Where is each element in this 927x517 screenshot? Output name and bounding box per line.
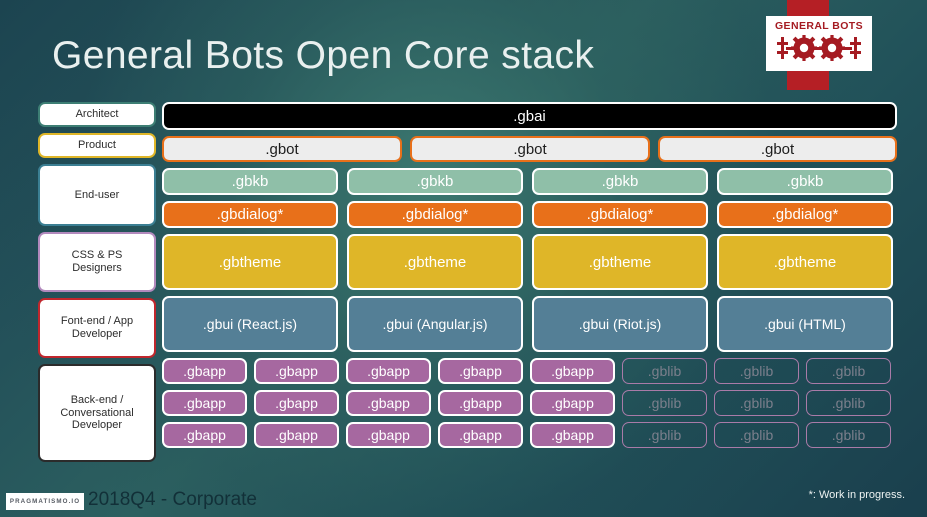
stack-cell-gblib[interactable]: .gblib [806,422,891,448]
spacer [431,358,438,384]
spacer [799,390,806,416]
spacer [799,422,806,448]
spacer [708,296,717,352]
role-label-5: Font-end / AppDeveloper [38,298,156,358]
stack-cell-gbapp[interactable]: .gbapp [162,422,247,448]
spacer [339,422,346,448]
spacer [431,390,438,416]
gbkb-row: .gbkb.gbkb.gbkb.gbkb [162,168,897,195]
stack-cell-gbapp[interactable]: .gbapp [438,358,523,384]
stack-cell-gbapp[interactable]: .gbapp [254,358,339,384]
spacer [707,390,714,416]
stack-cell-gbtheme[interactable]: .gbtheme [532,234,708,290]
stack-cell-gbapp[interactable]: .gbapp [162,358,247,384]
spacer [338,234,347,290]
spacer [247,422,254,448]
stack-cell-gbai[interactable]: .gbai [162,102,897,130]
spacer [523,201,532,228]
pragmatismo-logo: PRAGMATISMO.IO [6,493,84,510]
spacer [615,358,622,384]
role-label-3: End-user [38,164,156,226]
spacer [523,168,532,195]
spacer [707,358,714,384]
stack-cell-gbapp[interactable]: .gbapp [530,390,615,416]
spacer [431,422,438,448]
spacer [799,358,806,384]
spacer [708,168,717,195]
spacer [650,136,658,162]
stack-cell-gbapp[interactable]: .gbapp [530,422,615,448]
stack-cell-gbdialog[interactable]: .gbdialog* [162,201,338,228]
stack-cell-gblib[interactable]: .gblib [806,358,891,384]
spacer [523,358,530,384]
gbapp-gblib-row-2: .gbapp.gbapp.gbapp.gbapp.gbapp.gblib.gbl… [162,390,897,416]
gbapp-gblib-row-3: .gbapp.gbapp.gbapp.gbapp.gbapp.gblib.gbl… [162,422,897,448]
spacer [339,390,346,416]
spacer [338,296,347,352]
role-label-2: Product [38,133,156,158]
stack-cell-gbtheme[interactable]: .gbtheme [347,234,523,290]
spacer [339,358,346,384]
stack-cell-gblib[interactable]: .gblib [714,358,799,384]
stack-cell-gbapp[interactable]: .gbapp [346,390,431,416]
stack-cell-gblib[interactable]: .gblib [806,390,891,416]
stack-cell-gbkb[interactable]: .gbkb [717,168,893,195]
stack-cell-gbapp[interactable]: .gbapp [346,422,431,448]
spacer [615,422,622,448]
spacer [523,422,530,448]
spacer [338,168,347,195]
gbtheme-row: .gbtheme.gbtheme.gbtheme.gbtheme [162,234,897,290]
role-label-column: ArchitectProductEnd-userCSS & PSDesigner… [38,102,156,468]
stack-cell-gbapp[interactable]: .gbapp [438,422,523,448]
stack-cell-gbapp[interactable]: .gbapp [346,358,431,384]
stack-cell-gbtheme[interactable]: .gbtheme [717,234,893,290]
stack-cell-gblib[interactable]: .gblib [714,422,799,448]
stack-diagram: .gbai.gbot.gbot.gbot.gbkb.gbkb.gbkb.gbkb… [162,102,897,454]
stack-cell-gbapp[interactable]: .gbapp [530,358,615,384]
pragmatismo-wordmark: PRAGMATISMO.IO [10,498,80,505]
stack-cell-gbdialog[interactable]: .gbdialog* [532,201,708,228]
stack-cell-gbapp[interactable]: .gbapp [254,422,339,448]
logo-wordmark: GENERAL BOTS [775,21,863,32]
spacer [708,234,717,290]
spacer [247,390,254,416]
footer-caption: 2018Q4 - Corporate [88,489,257,511]
slide-canvas: GENERAL BOTS [0,0,927,517]
stack-cell-gblib[interactable]: .gblib [622,422,707,448]
role-label-1: Architect [38,102,156,127]
gears-logo-icon [777,35,861,66]
stack-cell-gbui[interactable]: .gbui (Angular.js) [347,296,523,352]
stack-cell-gbot[interactable]: .gbot [658,136,897,162]
stack-cell-gblib[interactable]: .gblib [714,390,799,416]
spacer [708,201,717,228]
stack-cell-gbkb[interactable]: .gbkb [347,168,523,195]
footer-note: *: Work in progress. [809,489,905,501]
stack-cell-gbtheme[interactable]: .gbtheme [162,234,338,290]
stack-cell-gbot[interactable]: .gbot [410,136,650,162]
page-title: General Bots Open Core stack [52,34,594,78]
spacer [523,296,532,352]
stack-cell-gbdialog[interactable]: .gbdialog* [717,201,893,228]
stack-cell-gblib[interactable]: .gblib [622,358,707,384]
spacer [523,390,530,416]
gbdialog-row: .gbdialog*.gbdialog*.gbdialog*.gbdialog* [162,201,897,228]
stack-cell-gbdialog[interactable]: .gbdialog* [347,201,523,228]
stack-cell-gbapp[interactable]: .gbapp [162,390,247,416]
spacer [707,422,714,448]
stack-cell-gbui[interactable]: .gbui (HTML) [717,296,893,352]
gbui-row: .gbui (React.js).gbui (Angular.js).gbui … [162,296,897,352]
gbapp-gblib-row-1: .gbapp.gbapp.gbapp.gbapp.gbapp.gblib.gbl… [162,358,897,384]
spacer [615,390,622,416]
stack-cell-gblib[interactable]: .gblib [622,390,707,416]
general-bots-logo: GENERAL BOTS [766,16,872,71]
stack-cell-gbui[interactable]: .gbui (React.js) [162,296,338,352]
stack-cell-gbkb[interactable]: .gbkb [162,168,338,195]
spacer [247,358,254,384]
role-label-4: CSS & PSDesigners [38,232,156,292]
spacer [523,234,532,290]
stack-cell-gbapp[interactable]: .gbapp [254,390,339,416]
spacer [338,201,347,228]
stack-cell-gbui[interactable]: .gbui (Riot.js) [532,296,708,352]
spacer [402,136,410,162]
stack-cell-gbkb[interactable]: .gbkb [532,168,708,195]
gbai-row: .gbai [162,102,897,130]
gbot-row: .gbot.gbot.gbot [162,136,897,162]
stack-cell-gbot[interactable]: .gbot [162,136,402,162]
stack-cell-gbapp[interactable]: .gbapp [438,390,523,416]
role-label-6: Back-end /ConversationalDeveloper [38,364,156,462]
